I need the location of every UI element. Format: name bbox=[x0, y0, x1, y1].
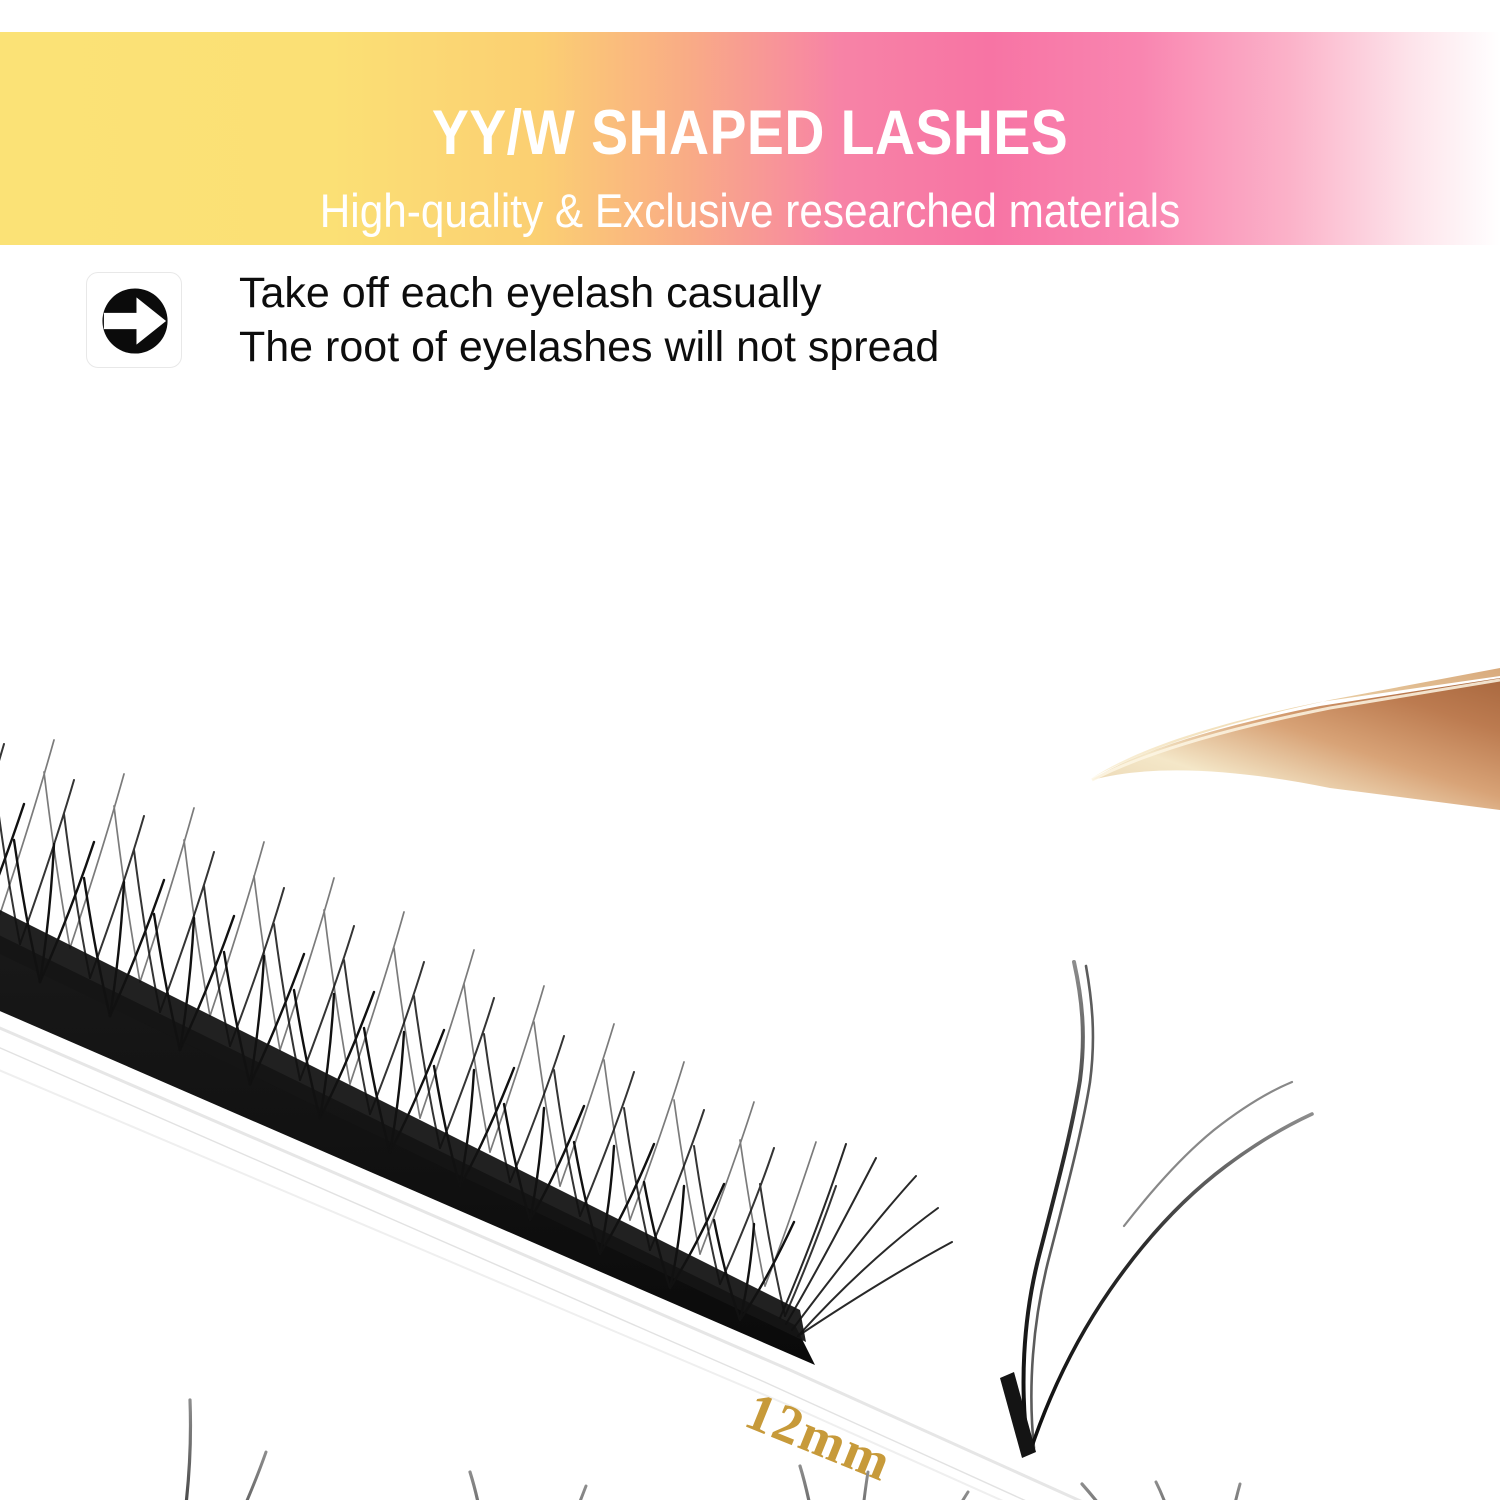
callout-line-1: Take off each eyelash casually bbox=[239, 266, 1079, 320]
arrow-right-circle-icon bbox=[98, 284, 172, 358]
product-infographic: YY/W SHAPED LASHES High-quality & Exclus… bbox=[0, 0, 1500, 1500]
lash-tray-card bbox=[0, 842, 1096, 1500]
product-photo: 12mm bbox=[0, 390, 1500, 1500]
fan-sample-6-prong bbox=[1082, 1482, 1456, 1500]
callout-icon-box bbox=[86, 272, 182, 368]
feature-callout: Take off each eyelash casually The root … bbox=[86, 272, 1086, 388]
product-photo-svg: 12mm bbox=[0, 390, 1500, 1500]
page-title: YY/W SHAPED LASHES bbox=[90, 98, 1410, 168]
page-subtitle: High-quality & Exclusive researched mate… bbox=[75, 184, 1425, 238]
header-banner: YY/W SHAPED LASHES High-quality & Exclus… bbox=[0, 32, 1500, 245]
lifted-lash-fan bbox=[1000, 962, 1312, 1458]
callout-text-block: Take off each eyelash casually The root … bbox=[239, 266, 1079, 374]
callout-line-2: The root of eyelashes will not spread bbox=[239, 320, 1079, 374]
rose-gold-tweezer bbox=[1092, 668, 1500, 810]
